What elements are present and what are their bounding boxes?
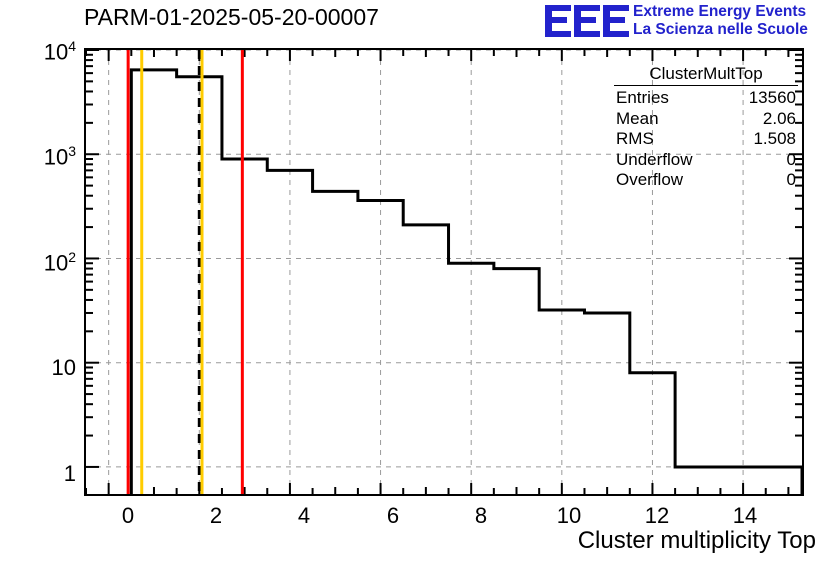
stats-value-mean: 2.06 <box>763 109 796 130</box>
y-tick-label-1000: 103 <box>10 143 76 170</box>
stats-row-mean: Mean 2.06 <box>610 109 802 130</box>
stats-value-underflow: 0 <box>787 150 796 171</box>
stats-value-rms: 1.508 <box>753 129 796 150</box>
y-tick-label-10: 10 <box>10 355 76 381</box>
stats-value-overflow: 0 <box>787 170 796 191</box>
stats-row-entries: Entries 13560 <box>610 88 802 109</box>
x-tick-label-0: 0 <box>108 503 148 529</box>
y-tick-label-10000: 104 <box>10 38 76 65</box>
y-tick-label-100: 102 <box>10 249 76 276</box>
stats-box: ClusterMultTop Entries 13560 Mean 2.06 R… <box>610 64 802 204</box>
page-title: PARM-01-2025-05-20-00007 <box>84 4 379 31</box>
x-tick-label-2: 2 <box>196 503 236 529</box>
stats-key-rms: RMS <box>616 129 654 150</box>
x-tick-label-6: 6 <box>373 503 413 529</box>
stats-key-entries: Entries <box>616 88 669 109</box>
eee-logo-line1: Extreme Energy Events <box>633 3 808 21</box>
y-tick-label-1: 1 <box>10 461 76 487</box>
stats-key-mean: Mean <box>616 109 659 130</box>
x-tick-label-10: 10 <box>549 503 589 529</box>
stats-value-entries: 13560 <box>749 88 796 109</box>
x-tick-label-12: 12 <box>637 503 677 529</box>
stats-key-underflow: Underflow <box>616 150 693 171</box>
x-tick-label-14: 14 <box>725 503 765 529</box>
x-tick-label-8: 8 <box>461 503 501 529</box>
root-canvas: PARM-01-2025-05-20-00007 Extreme Energy … <box>0 0 836 572</box>
stats-row-underflow: Underflow 0 <box>610 150 802 171</box>
stats-row-rms: RMS 1.508 <box>610 129 802 150</box>
stats-title: ClusterMultTop <box>614 64 798 86</box>
eee-logo-line2: La Scienza nelle Scuole <box>633 21 808 39</box>
eee-logo: Extreme Energy Events La Scienza nelle S… <box>545 2 833 42</box>
stats-row-overflow: Overflow 0 <box>610 170 802 191</box>
x-axis-title: Cluster multiplicity Top <box>578 527 816 555</box>
stats-key-overflow: Overflow <box>616 170 683 191</box>
eee-logo-text: Extreme Energy Events La Scienza nelle S… <box>633 3 808 39</box>
x-tick-label-4: 4 <box>284 503 324 529</box>
eee-letters-icon <box>545 4 630 38</box>
